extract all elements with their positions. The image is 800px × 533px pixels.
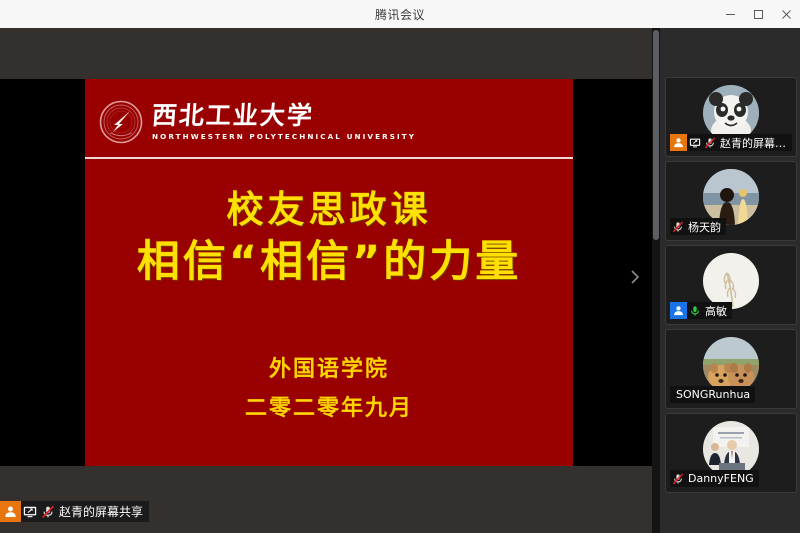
screen-share-icon — [21, 501, 39, 522]
host-badge-icon — [670, 134, 687, 151]
participant-tile[interactable]: DannyFENG — [665, 413, 797, 493]
participant-label: 赵青的屏幕共享 — [670, 134, 792, 151]
window-controls — [716, 0, 800, 28]
screen-share-icon — [687, 134, 702, 151]
participant-label: SONGRunhua — [670, 386, 755, 403]
screen-share-name-tag: 赵青的屏幕共享 — [0, 501, 149, 522]
title-bar: 腾讯会议 — [0, 0, 800, 29]
screen-share-owner-name: 赵青的屏幕共享 — [57, 503, 149, 520]
participant-name: 赵青的屏幕共享 — [717, 135, 792, 151]
mic-muted-icon — [702, 134, 717, 151]
shared-screen-video: 西北工业大学 NORTHWESTERN POLYTECHNICAL UNIVER… — [0, 79, 652, 466]
participants-scrollbar[interactable] — [652, 28, 660, 533]
mic-muted-icon — [670, 470, 685, 487]
university-logo: 西北工业大学 NORTHWESTERN POLYTECHNICAL UNIVER… — [99, 100, 416, 144]
minimize-button[interactable] — [716, 0, 744, 28]
tencent-meeting-window: 腾讯会议 — [0, 0, 800, 533]
participant-name: 高敏 — [702, 303, 732, 319]
slide-title-line2: 相信“相信”的力量 — [85, 238, 573, 287]
university-name-cn: 西北工业大学 — [151, 103, 417, 128]
slide-title: 校友思政课 相信“相信”的力量 — [85, 191, 573, 287]
participant-tile[interactable]: 赵青的屏幕共享 — [665, 77, 797, 157]
shared-screen-stage[interactable]: 西北工业大学 NORTHWESTERN POLYTECHNICAL UNIVER… — [0, 28, 652, 533]
participants-panel[interactable]: 赵青的屏幕共享 杨天韵 — [660, 28, 800, 533]
slide-subtitle: 外国语学院 二零二零年九月 — [85, 351, 573, 422]
participant-tile[interactable]: SONGRunhua — [665, 329, 797, 409]
participant-tile[interactable]: 高敏 — [665, 245, 797, 325]
participant-name: SONGRunhua — [670, 388, 755, 401]
stage-bottom-bar: 赵青的屏幕共享 — [0, 466, 652, 533]
mic-muted-icon — [670, 218, 685, 235]
participant-name: 杨天韵 — [685, 219, 726, 235]
participants-scrollbar-thumb[interactable] — [653, 30, 659, 240]
university-seal-icon — [99, 100, 143, 144]
participant-label: DannyFENG — [670, 470, 759, 487]
mic-muted-icon — [39, 501, 57, 522]
maximize-button[interactable] — [744, 0, 772, 28]
window-title: 腾讯会议 — [375, 6, 425, 23]
close-button[interactable] — [772, 0, 800, 28]
university-logo-text: 西北工业大学 NORTHWESTERN POLYTECHNICAL UNIVER… — [152, 103, 416, 140]
participant-label: 高敏 — [670, 302, 732, 319]
participant-tile[interactable]: 杨天韵 — [665, 161, 797, 241]
slide-subtitle-line1: 外国语学院 — [85, 351, 573, 383]
participant-label: 杨天韵 — [670, 218, 726, 235]
avatar — [703, 253, 759, 309]
slide-divider — [85, 157, 573, 159]
slide-subtitle-line2: 二零二零年九月 — [85, 390, 573, 422]
avatar — [703, 85, 759, 141]
avatar — [703, 337, 759, 393]
collapse-panel-chevron-right-icon[interactable] — [628, 266, 642, 288]
slide-title-line1: 校友思政课 — [85, 191, 573, 230]
avatar — [703, 169, 759, 225]
participant-badge-icon — [670, 302, 687, 319]
mic-active-icon — [687, 302, 702, 319]
avatar — [703, 421, 759, 477]
university-name-en: NORTHWESTERN POLYTECHNICAL UNIVERSITY — [152, 133, 416, 140]
host-badge-icon — [0, 501, 21, 522]
presentation-slide: 西北工业大学 NORTHWESTERN POLYTECHNICAL UNIVER… — [85, 79, 573, 466]
participant-name: DannyFENG — [685, 472, 759, 485]
